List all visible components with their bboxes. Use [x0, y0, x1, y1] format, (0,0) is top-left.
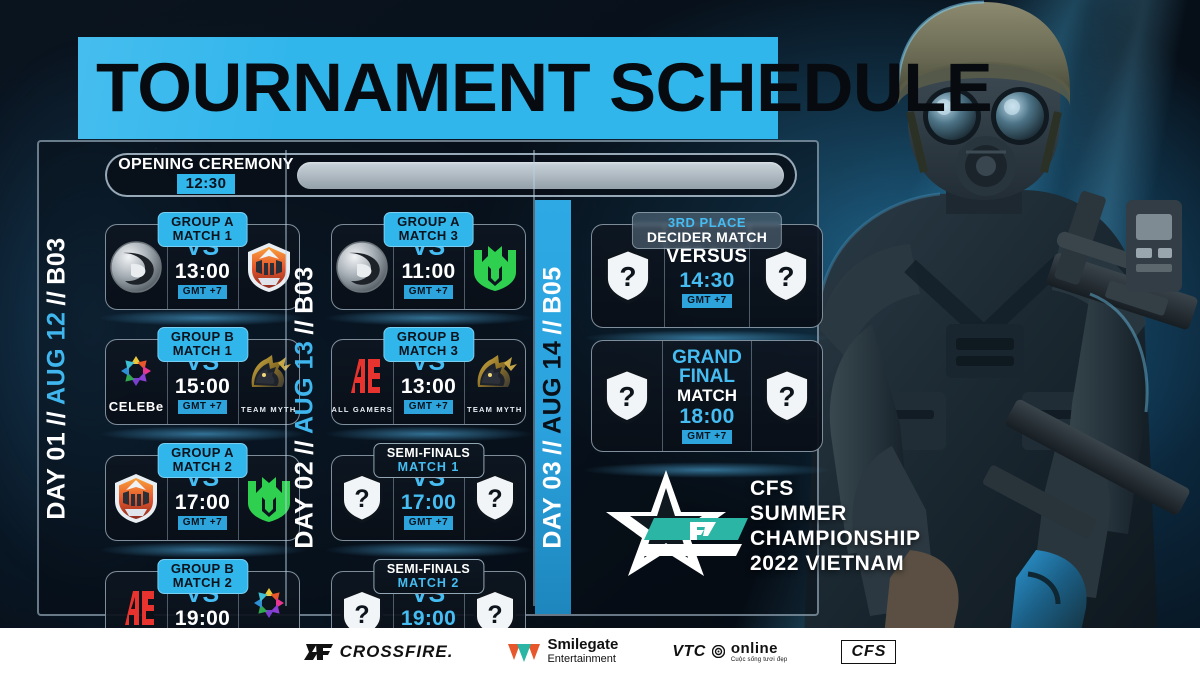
- svg-text:?: ?: [619, 261, 636, 292]
- match-badge: GROUP A MATCH 2: [157, 443, 248, 478]
- sponsor-crossfire: CROSSFIRE.: [304, 641, 454, 663]
- brand-line-3: 2022 VIETNAM: [750, 551, 978, 576]
- sponsor-word: online: [731, 640, 788, 657]
- match-badge: 3RD PLACE DECIDER MATCH: [632, 212, 782, 249]
- match-time: 18:00: [679, 405, 734, 428]
- badge-line-2: MATCH 2: [171, 460, 234, 474]
- sponsor-label: VTC: [672, 643, 706, 661]
- day-separator: //: [43, 290, 72, 305]
- date-label-3: AUG 14: [539, 340, 568, 433]
- card-glow: [324, 426, 534, 442]
- ceremony-info: OPENING CEREMONY 12:30: [107, 156, 297, 194]
- match-card[interactable]: GROUP A MATCH 2: [105, 455, 300, 541]
- badge-line-2: DECIDER MATCH: [647, 230, 767, 244]
- ceremony-progress-bar: [297, 162, 784, 189]
- team-name: CELEBe: [109, 399, 164, 414]
- brand-text-block: CFS SUMMER CHAMPIONSHIP 2022 VIETNAM: [750, 476, 978, 576]
- team-logo-tbd: ?: [602, 247, 654, 305]
- svg-text:?: ?: [355, 485, 370, 513]
- badge-line-2: MATCH 1: [171, 229, 234, 243]
- team-logo-rug: [109, 471, 163, 525]
- sponsor-smilegate: Smilegate Entertainment: [507, 637, 618, 666]
- day-separator: //: [539, 439, 568, 454]
- sponsor-label: Smilegate: [547, 637, 618, 653]
- page-title: TOURNAMENT SCHEDULE: [96, 45, 800, 131]
- match-time: 19:00: [401, 607, 456, 630]
- badge-line-2: MATCH 3: [397, 344, 460, 358]
- brand-line-1: CFS: [750, 476, 978, 501]
- sponsor-footer: CROSSFIRE. Smilegate Entertainment VTC o…: [0, 628, 1200, 675]
- badge-line-1: 3RD PLACE: [647, 216, 767, 230]
- crossfire-icon: [304, 641, 334, 663]
- team-logo-tbd: ?: [339, 472, 385, 524]
- day-label-1: DAY 01: [43, 431, 72, 519]
- team-logo-tbd: ?: [472, 472, 518, 524]
- badge-line-2: MATCH 3: [397, 229, 460, 243]
- badge-line-1: GROUP B: [171, 330, 234, 344]
- team-logo-tbd: ?: [760, 247, 812, 305]
- match-badge: GROUP A MATCH 1: [157, 212, 248, 247]
- opening-ceremony: OPENING CEREMONY 12:30: [105, 153, 797, 197]
- match-timezone: GMT +7: [178, 516, 227, 530]
- match-timezone: GMT +7: [404, 516, 453, 530]
- team-name: ALL GAMERS: [332, 405, 393, 414]
- team-logo-allgamers: ALL GAMERS: [335, 353, 389, 411]
- match-timezone: GMT +7: [178, 400, 227, 414]
- svg-text:?: ?: [355, 601, 370, 629]
- match-time: 13:00: [401, 375, 456, 398]
- match-time: 19:00: [175, 607, 230, 630]
- badge-line-1: GROUP A: [171, 446, 234, 460]
- match-badge: GROUP B MATCH 1: [157, 327, 248, 362]
- badge-line-1: GROUP A: [397, 215, 460, 229]
- day-label-3: DAY 03: [539, 460, 568, 548]
- match-time: 14:30: [679, 269, 734, 292]
- team-logo-myth: TEAM MYTH: [468, 353, 522, 411]
- poster-canvas: TOURNAMENT SCHEDULE DAY 01 // AUG 12 // …: [0, 0, 1200, 675]
- vtc-swirl-icon: [712, 645, 725, 658]
- format-label-3: B05: [539, 266, 568, 313]
- grand-final-line-3: MATCH: [677, 386, 737, 405]
- date-label-2: AUG 13: [291, 340, 320, 433]
- card-glow: [324, 310, 534, 326]
- team-left: ?: [592, 341, 662, 451]
- format-label-1: B03: [43, 237, 72, 284]
- badge-line-2: MATCH 1: [387, 460, 470, 474]
- badge-line-1: SEMI-FINALS: [387, 562, 470, 576]
- brand-line-2: SUMMER CHAMPIONSHIP: [750, 501, 978, 551]
- team-name: TEAM MYTH: [467, 405, 522, 414]
- card-glow: [324, 542, 534, 558]
- match-time: 17:00: [175, 491, 230, 514]
- sponsor-cfs: CFS: [841, 640, 896, 664]
- match-card[interactable]: GROUP A MATCH 1 VS: [105, 224, 300, 310]
- svg-text:?: ?: [487, 601, 502, 629]
- match-timezone: GMT +7: [682, 294, 731, 308]
- match-badge: SEMI-FINALS MATCH 2: [373, 559, 484, 594]
- match-card[interactable]: GROUP B MATCH 1: [105, 339, 300, 425]
- format-label-2: B03: [291, 266, 320, 313]
- svg-text:?: ?: [778, 381, 795, 412]
- card-glow: [98, 310, 308, 326]
- cfs-star-logo: [598, 468, 748, 576]
- match-timezone: GMT +7: [404, 285, 453, 299]
- match-timezone: GMT +7: [682, 430, 731, 444]
- match-center: GRAND FINAL MATCH 18:00 GMT +7: [662, 341, 752, 451]
- sponsor-label: CFS: [851, 643, 886, 661]
- match-time: 17:00: [401, 491, 456, 514]
- match-card[interactable]: GROUP A MATCH 3 VS 11:00 GMT +7: [331, 224, 526, 310]
- match-timezone: GMT +7: [404, 400, 453, 414]
- team-logo-green: [468, 240, 522, 294]
- day-separator: //: [539, 319, 568, 334]
- sponsor-sublabel: Entertainment: [547, 653, 618, 666]
- badge-line-2: MATCH 2: [171, 576, 234, 590]
- cfs-brand-lockup: CFS SUMMER CHAMPIONSHIP 2022 VIETNAM: [598, 468, 978, 576]
- card-glow: [98, 426, 308, 442]
- team-logo-celebe: CELEBe: [109, 353, 163, 411]
- day-rail-3: DAY 03 // AUG 14 // B05: [535, 200, 571, 614]
- match-time: 11:00: [401, 260, 455, 283]
- badge-line-1: SEMI-FINALS: [387, 446, 470, 460]
- grand-final-line-1: GRAND: [672, 348, 742, 367]
- match-badge: SEMI-FINALS MATCH 1: [373, 443, 484, 478]
- sponsor-label: CROSSFIRE.: [340, 642, 454, 662]
- match-card[interactable]: GROUP B MATCH 3 ALL GAMERS VS 13:00 GM: [331, 339, 526, 425]
- svg-text:?: ?: [487, 485, 502, 513]
- badge-line-1: GROUP B: [171, 562, 234, 576]
- match-badge: GROUP A MATCH 3: [383, 212, 474, 247]
- grand-final-line-2: FINAL: [679, 367, 735, 386]
- day-separator: //: [43, 410, 72, 425]
- match-card[interactable]: SEMI-FINALS MATCH 1 ? VS 17:00 GMT +7: [331, 455, 526, 541]
- match-time: 13:00: [175, 260, 230, 283]
- svg-text:?: ?: [777, 261, 794, 292]
- match-time: 15:00: [175, 375, 230, 398]
- team-logo-tbd: ?: [761, 367, 813, 425]
- ceremony-label: OPENING CEREMONY: [115, 156, 297, 173]
- day-rail-1: DAY 01 // AUG 12 // B03: [39, 142, 75, 614]
- match-card-grand-final[interactable]: ? GRAND FINAL MATCH 18:00 GMT +7 ?: [591, 340, 823, 452]
- day-separator: //: [291, 439, 320, 454]
- badge-line-1: GROUP A: [171, 215, 234, 229]
- day-rail-2: DAY 02 // AUG 13 // B03: [287, 200, 323, 614]
- match-card[interactable]: 3RD PLACE DECIDER MATCH ? VERSUS 14:30 G…: [591, 224, 823, 328]
- ceremony-time: 12:30: [177, 174, 236, 194]
- match-badge: GROUP B MATCH 2: [157, 559, 248, 594]
- sponsor-vtc-online: VTC online Cuộc sống tươi đẹp: [672, 640, 787, 663]
- match-badge: GROUP B MATCH 3: [383, 327, 474, 362]
- match-timezone: GMT +7: [178, 285, 227, 299]
- badge-line-2: MATCH 2: [387, 576, 470, 590]
- badge-line-2: MATCH 1: [171, 344, 234, 358]
- team-logo-divine: [109, 240, 163, 294]
- svg-text:?: ?: [618, 381, 635, 412]
- smilegate-icon: [507, 640, 541, 664]
- team-logo-divine: [335, 240, 389, 294]
- date-label-1: AUG 12: [43, 311, 72, 404]
- day-label-2: DAY 02: [291, 460, 320, 548]
- card-glow: [98, 542, 308, 558]
- team-right: ?: [752, 341, 822, 451]
- team-logo-tbd: ?: [601, 367, 653, 425]
- badge-line-1: GROUP B: [397, 330, 460, 344]
- sponsor-sublabel: Cuộc sống tươi đẹp: [731, 657, 788, 663]
- day-separator: //: [291, 319, 320, 334]
